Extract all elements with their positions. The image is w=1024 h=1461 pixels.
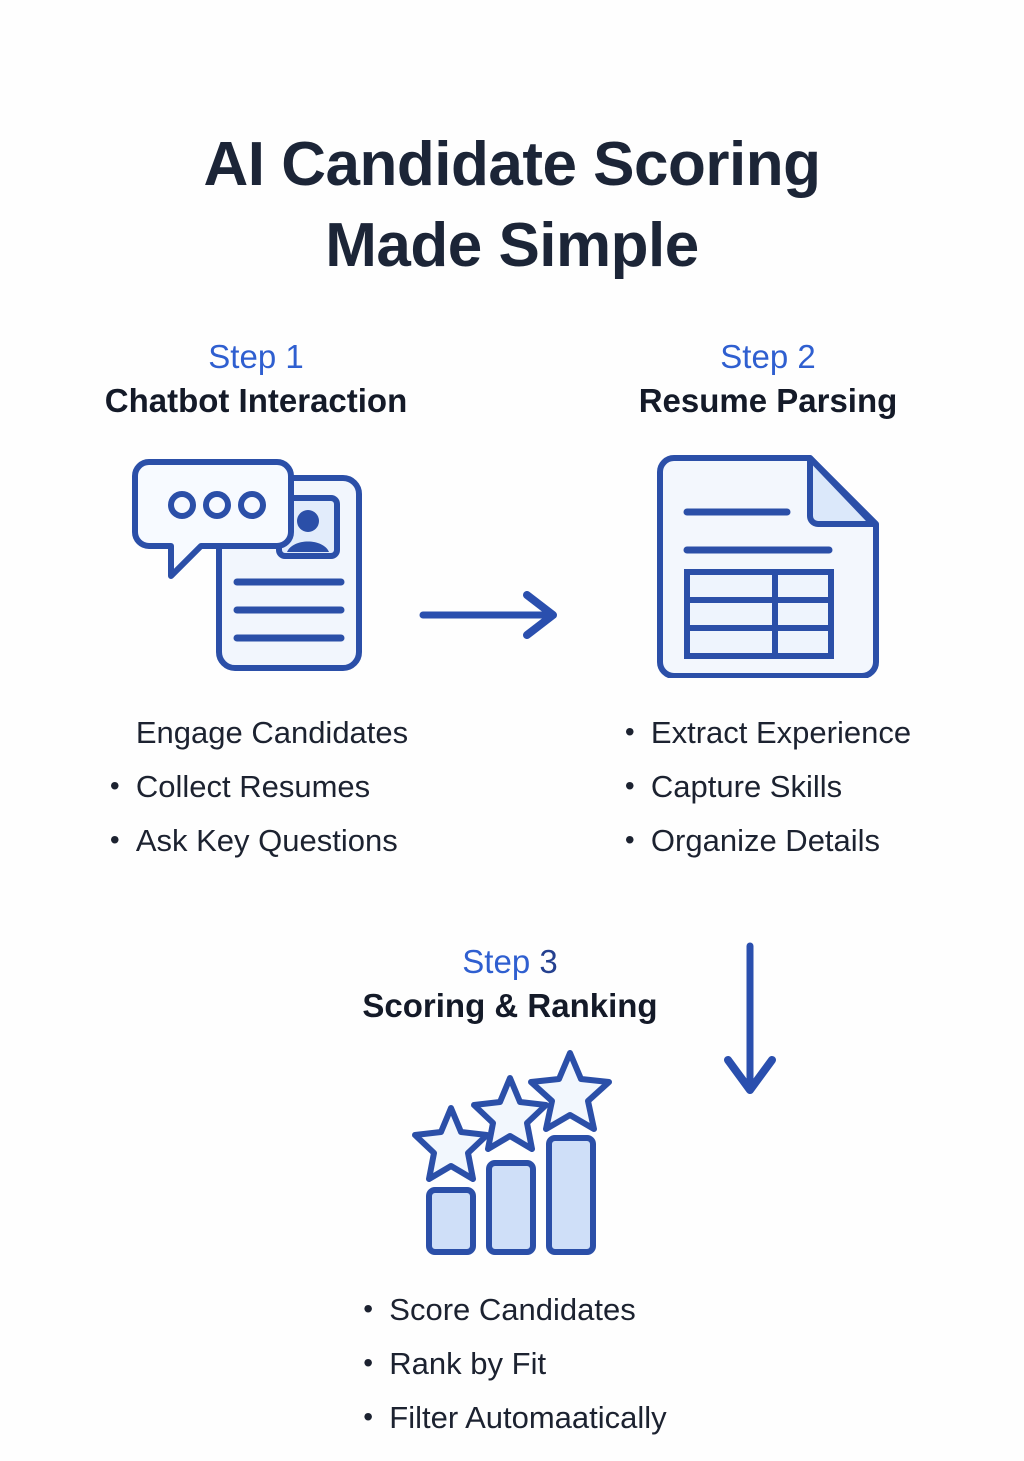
step-3-section: Step 3 Scoring & Ranking Score Candidate…: [0, 944, 1024, 1461]
step-2-column: Step 2 Resume Parsing Extract Experience…: [512, 339, 1024, 884]
list-item: Capture Skills: [625, 760, 911, 814]
step-3-label-word: Step: [462, 943, 530, 980]
list-item: Rank by Fit: [363, 1337, 666, 1391]
list-item: Engage Candidates: [110, 706, 408, 760]
step-1-number: 1: [285, 338, 303, 375]
list-item: Organize Details: [625, 814, 911, 868]
steps-top-row: Step 1 Chatbot Interaction: [0, 339, 1024, 884]
list-item: Ask Key Questions: [110, 814, 408, 868]
step-2-label-word: Step: [720, 338, 788, 375]
list-item: Filter Automaatically: [363, 1391, 666, 1445]
arrow-down-connector: [718, 942, 782, 1100]
arrow-right-icon: [417, 591, 565, 639]
step-1-bullet-list: Engage Candidates Collect Resumes Ask Ke…: [110, 706, 408, 868]
chatbot-interaction-icon: [127, 450, 385, 678]
step-2-title: Resume Parsing: [639, 383, 898, 419]
star-bar-chart-icon: [403, 1050, 617, 1258]
page-title-line-2: Made Simple: [0, 205, 1024, 287]
step-2-icon-wrap: [657, 446, 879, 682]
arrow-right-connector: [417, 591, 565, 639]
page-title: AI Candidate Scoring Made Simple: [0, 42, 1024, 288]
step-2-label: Step 2: [720, 339, 815, 375]
step-1-title: Chatbot Interaction: [105, 383, 408, 419]
list-item: Extract Experience: [625, 706, 911, 760]
step-3-title: Scoring & Ranking: [362, 988, 657, 1024]
page-title-line-1: AI Candidate Scoring: [0, 124, 1024, 206]
step-3-label: Step 3: [462, 944, 557, 980]
list-item: Score Candidates: [363, 1283, 666, 1337]
step-1-label-word: Step: [208, 338, 276, 375]
arrow-down-icon: [718, 942, 782, 1100]
step-2-number: 2: [797, 338, 815, 375]
step-1-label: Step 1: [208, 339, 303, 375]
resume-document-icon: [657, 450, 879, 678]
step-1-icon-wrap: [127, 446, 385, 682]
step-3-icon-wrap: [403, 1046, 617, 1261]
step-3-number: 3: [539, 943, 557, 980]
step-3-bullet-list: Score Candidates Rank by Fit Filter Auto…: [363, 1283, 666, 1445]
step-3-column: Step 3 Scoring & Ranking Score Candidate…: [353, 944, 666, 1461]
list-item: Collect Resumes: [110, 760, 408, 814]
step-2-bullet-list: Extract Experience Capture Skills Organi…: [625, 706, 911, 868]
